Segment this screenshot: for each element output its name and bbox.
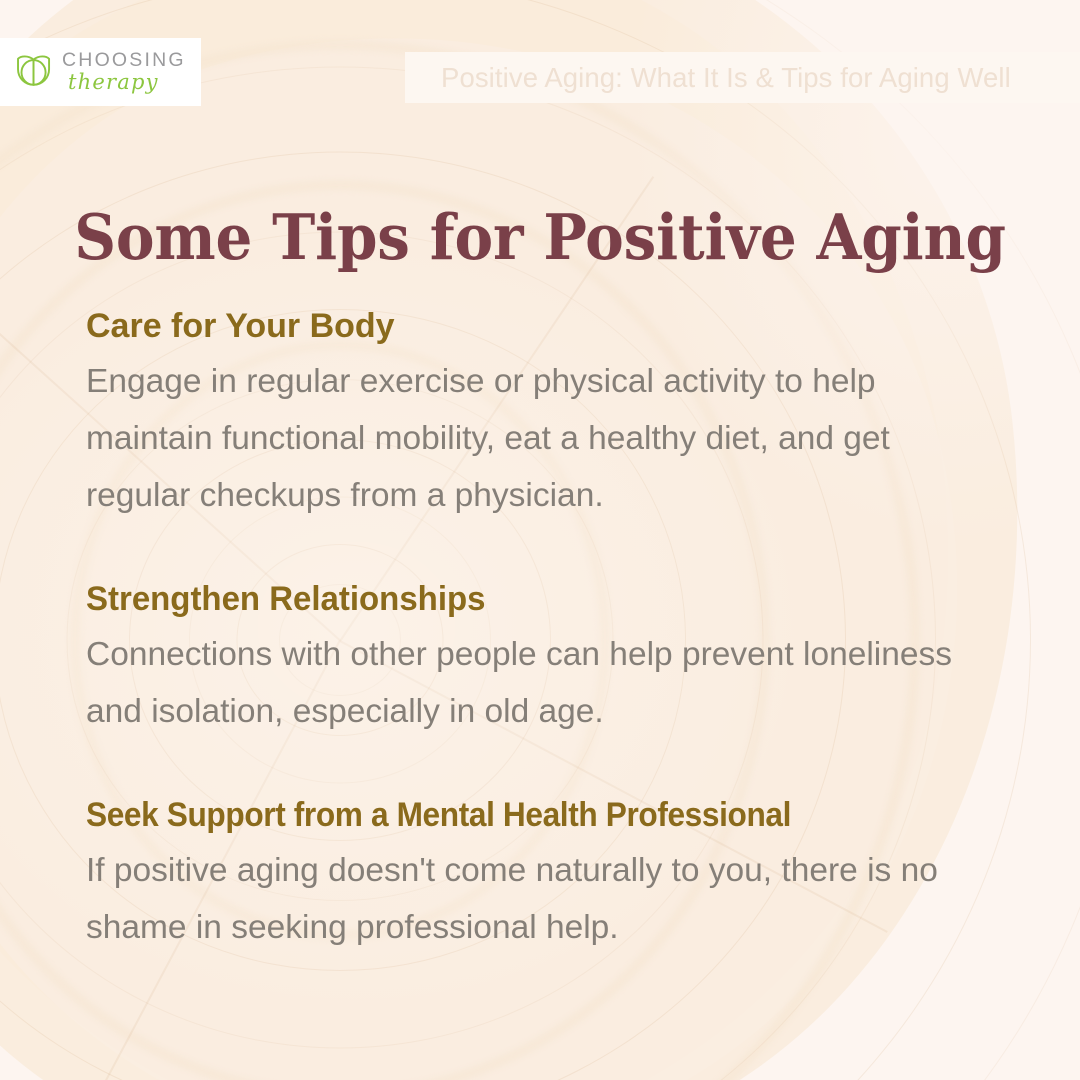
tip-body: Engage in regular exercise or physical a…	[86, 354, 991, 525]
tip-item: Seek Support from a Mental Health Profes…	[86, 795, 996, 957]
logo-text-choosing: CHOOSING	[62, 51, 186, 71]
tip-body: Connections with other people can help p…	[86, 627, 991, 741]
article-title: Positive Aging: What It Is & Tips for Ag…	[441, 52, 1062, 103]
logo-text-therapy: therapy	[68, 72, 186, 93]
logo-wordmark: CHOOSING therapy	[62, 51, 186, 93]
brand-logo[interactable]: CHOOSING therapy	[0, 38, 201, 106]
tip-heading: Care for Your Body	[86, 306, 996, 346]
tip-body: If positive aging doesn't come naturally…	[86, 843, 991, 957]
tips-list: Care for Your Body Engage in regular exe…	[86, 306, 996, 957]
tip-item: Care for Your Body Engage in regular exe…	[86, 306, 996, 525]
tip-heading: Strengthen Relationships	[86, 579, 969, 619]
infographic-canvas: CHOOSING therapy Positive Aging: What It…	[0, 0, 1080, 1080]
tip-heading: Seek Support from a Mental Health Profes…	[86, 795, 932, 835]
tip-item: Strengthen Relationships Connections wit…	[86, 579, 996, 741]
page-title: Some Tips for Positive Aging	[43, 200, 1037, 274]
lotus-leaf-icon	[12, 51, 56, 93]
